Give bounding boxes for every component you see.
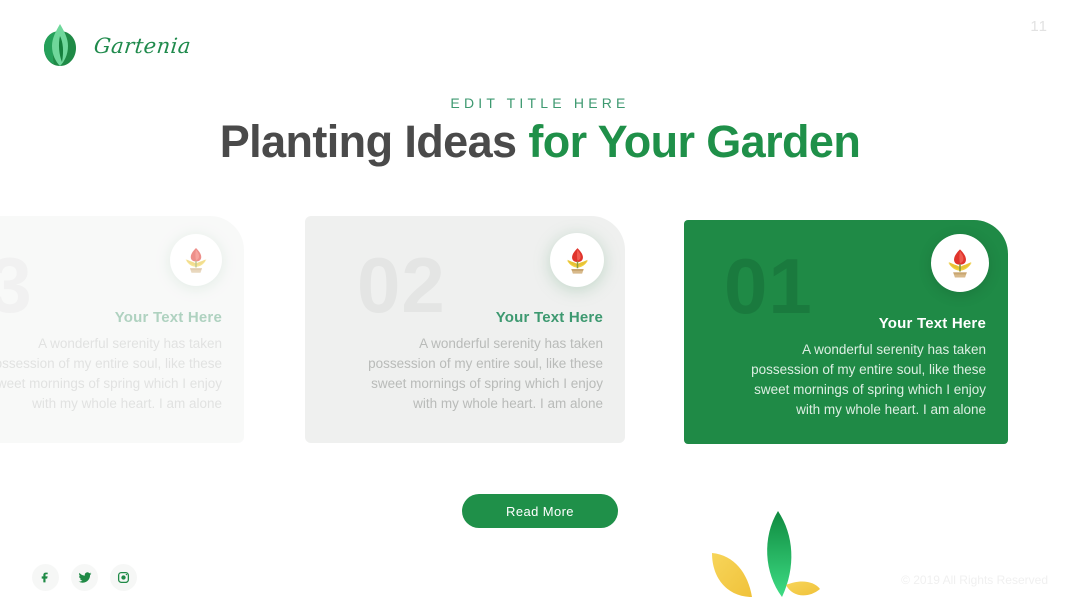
read-more-button[interactable]: Read More: [462, 494, 618, 528]
card-text-block: Your Text Here A wonderful serenity has …: [0, 309, 222, 414]
card-text-block: Your Text Here A wonderful serenity has …: [353, 309, 603, 414]
brand-logo[interactable]: Gartenia: [38, 22, 191, 70]
facebook-icon[interactable]: [32, 564, 59, 591]
page-title-green: for Your Garden: [528, 116, 860, 167]
potted-flower-icon: [181, 245, 211, 275]
card-body: A wonderful serenity has taken possessio…: [353, 334, 603, 414]
social-links: [32, 564, 137, 591]
eyebrow-title: EDIT TITLE HERE: [0, 95, 1080, 111]
tulip-leaf-logo-icon: [38, 22, 82, 70]
feature-card-01[interactable]: 01 Your Text Here A wonderful serenity h…: [684, 220, 1008, 444]
card-icon-badge: [931, 234, 989, 292]
card-body: A wonderful serenity has taken possessio…: [736, 340, 986, 420]
twitter-icon[interactable]: [71, 564, 98, 591]
card-body: A wonderful serenity has taken possessio…: [0, 334, 222, 414]
card-heading: Your Text Here: [353, 309, 603, 326]
page-number: 11: [1030, 18, 1048, 35]
instagram-icon[interactable]: [110, 564, 137, 591]
potted-flower-icon: [562, 245, 593, 276]
brand-name: Gartenia: [93, 34, 192, 58]
page-title-dark: Planting Ideas: [220, 116, 529, 167]
feature-card-03[interactable]: 03 Your Text Here A wonderful serenity h…: [0, 216, 244, 443]
card-number: 01: [724, 247, 813, 325]
copyright-text: © 2019 All Rights Reserved: [901, 573, 1048, 587]
card-icon-badge: [170, 234, 222, 286]
potted-flower-icon: [943, 246, 977, 280]
page-title: Planting Ideas for Your Garden: [0, 116, 1080, 168]
card-heading: Your Text Here: [736, 315, 986, 332]
card-heading: Your Text Here: [0, 309, 222, 326]
slide-canvas: Gartenia 11 EDIT TITLE HERE Planting Ide…: [0, 0, 1080, 607]
feature-card-02[interactable]: 02 Your Text Here A wonderful serenity h…: [305, 216, 625, 443]
card-text-block: Your Text Here A wonderful serenity has …: [736, 315, 986, 420]
three-leaves-decoration-icon: [690, 507, 860, 607]
card-icon-badge: [550, 233, 604, 287]
